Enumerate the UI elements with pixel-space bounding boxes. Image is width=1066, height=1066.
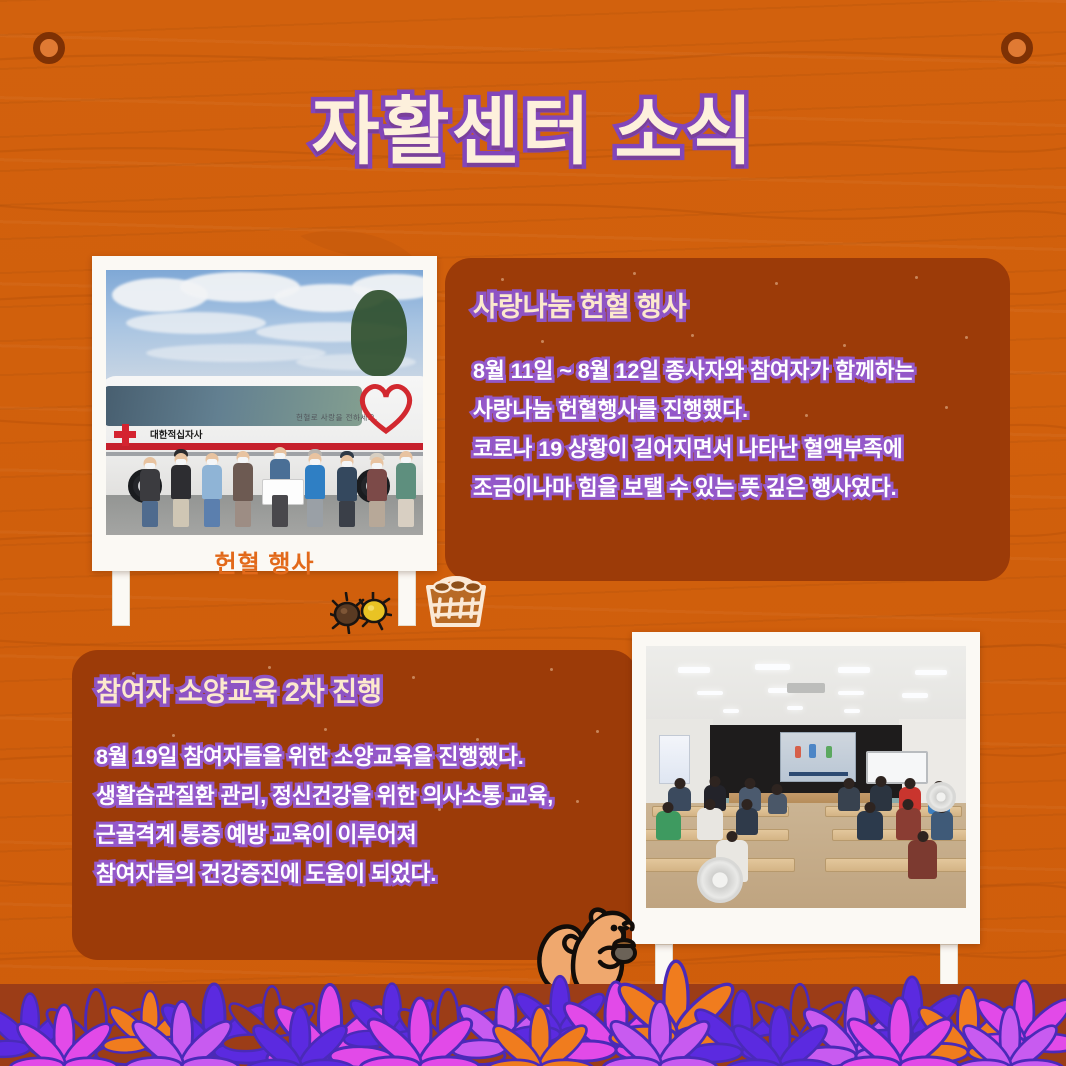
polaroid-blood-donation: 대한적십자사 헌혈로 사랑을 전하세요. (92, 256, 437, 571)
section-2-body-line: 참여자들의 건강증진에 도움이 되었다. (96, 855, 553, 894)
photo-person (230, 451, 256, 527)
section-2-body-line: 생활습관질환 관리, 정신건강을 위한 의사소통 교육, (96, 777, 553, 816)
pin-hole-right-icon (1001, 32, 1033, 64)
section-1-body-line: 코로나 19 상황이 길어지면서 나타난 혈액부족에 (473, 430, 914, 469)
photo-fan (697, 857, 743, 903)
photo-student (908, 840, 937, 879)
photo-person (302, 449, 328, 527)
photo-wall-poster (659, 735, 690, 784)
photo-student (931, 811, 953, 840)
photo-student (697, 808, 723, 839)
photo-training-room (646, 646, 966, 908)
photo-bus-org-label: 대한적십자사 (150, 427, 202, 441)
photo-student (838, 787, 860, 811)
polaroid-1-caption: 헌혈 행사 (92, 544, 437, 579)
autumn-leaf-border (0, 938, 1066, 1066)
photo-heart-graphic (355, 379, 417, 435)
photo-person (334, 451, 360, 527)
photo-student (768, 793, 787, 814)
photo-person (200, 453, 224, 527)
photo-student (857, 811, 883, 840)
photo-person (168, 449, 194, 527)
photo-student (656, 811, 682, 840)
section-1-heading: 사랑나눔 헌혈 행사 (473, 285, 687, 324)
photo-student (736, 808, 758, 834)
photo-tree (351, 290, 407, 376)
chestnut-pair-icon (330, 592, 392, 634)
photo-person (266, 447, 294, 527)
photo-projector-screen (780, 732, 856, 781)
poster-canvas: 자활센터 소식 사랑나눔 헌혈 행사 8월 11일 ~ 8월 12일 종사자와 … (0, 0, 1066, 1066)
section-1-body-line: 사랑나눔 헌혈행사를 진행했다. (473, 391, 914, 430)
pin-hole-left-icon (33, 32, 65, 64)
photo-person (138, 457, 162, 527)
section-2-body: 8월 19일 참여자들을 위한 소양교육을 진행했다. 생활습관질환 관리, 정… (96, 738, 553, 894)
section-1-body-line: 8월 11일 ~ 8월 12일 종사자와 참여자가 함께하는 (473, 352, 914, 391)
section-2-body-line: 8월 19일 참여자들을 위한 소양교육을 진행했다. (96, 738, 553, 777)
photo-air-vent (787, 683, 825, 693)
photo-blood-donation: 대한적십자사 헌혈로 사랑을 전하세요. (106, 270, 423, 535)
photo-person (394, 451, 418, 527)
polaroid-training: 소양교육 (632, 632, 980, 944)
photo-person (364, 453, 390, 527)
section-1-body: 8월 11일 ~ 8월 12일 종사자와 참여자가 함께하는 사랑나눔 헌혈행사… (473, 352, 914, 508)
chestnut-basket-icon (420, 567, 492, 629)
section-2-heading: 참여자 소양교육 2차 진행 (96, 670, 382, 709)
section-2-body-line: 근골격계 통증 예방 교육이 이루어져 (96, 816, 553, 855)
page-title: 자활센터 소식 (0, 72, 1066, 179)
section-1-body-line: 조금이나마 힘을 보탤 수 있는 뜻 깊은 행사였다. (473, 469, 914, 508)
